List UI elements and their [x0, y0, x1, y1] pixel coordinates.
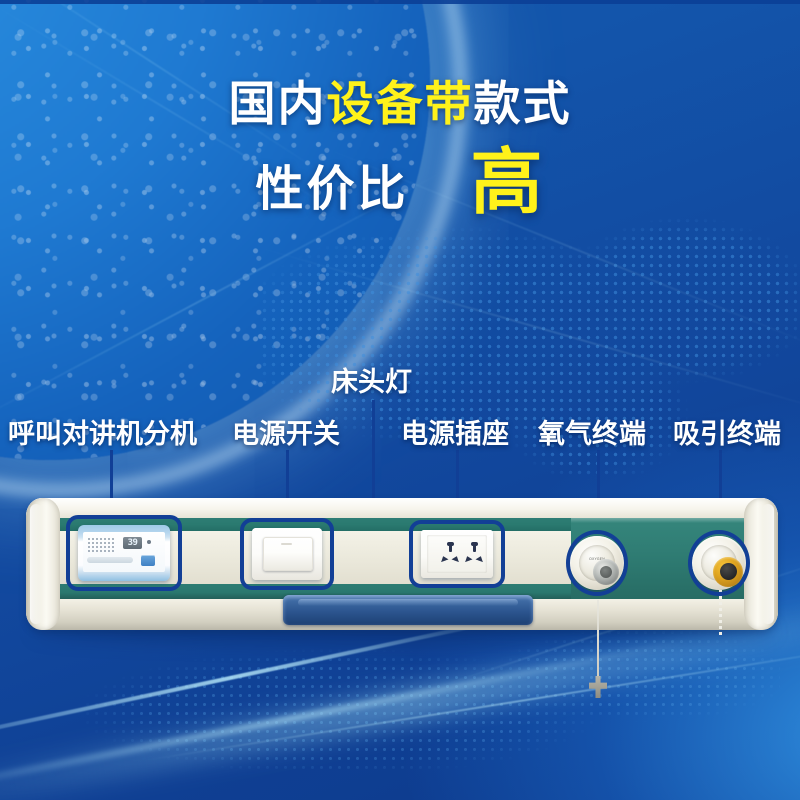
headline-part-2: 设备带 [327, 77, 474, 130]
headline-block: 国内设备带款式 性价比 高 [0, 78, 800, 219]
product-banner: 国内设备带款式 性价比 高 呼叫对讲机分机 电源开关 床头灯 电源插座 氧气终端… [0, 0, 800, 800]
highlight-box-intercom [66, 515, 182, 591]
suction-terminal-tether [719, 590, 722, 638]
top-edge-line [0, 0, 800, 4]
headline-value-phrase: 性价比 [255, 149, 408, 219]
bedside-light-pull-cord[interactable] [597, 600, 599, 678]
headline-emphasis-word: 高 [471, 149, 545, 217]
headline-part-1: 国内 [229, 77, 327, 130]
callout-label-switch: 电源开关 [232, 412, 340, 451]
panel-end-cap-left [26, 498, 60, 630]
highlight-box-switch [240, 518, 334, 590]
highlight-circle-suction [688, 530, 750, 596]
headline-part-3: 款式 [474, 77, 572, 130]
callout-label-outlet: 电源插座 [401, 412, 509, 451]
callout-label-lamp: 床头灯 [331, 360, 412, 399]
end-cap-highlight [762, 504, 774, 624]
callout-label-oxygen: 氧气终端 [538, 412, 646, 451]
headline-line-2: 性价比 高 [0, 149, 800, 219]
end-cap-highlight [30, 504, 42, 624]
callout-label-intercom: 呼叫对讲机分机 [8, 412, 197, 451]
highlight-box-outlet [409, 520, 505, 588]
headline-line-1: 国内设备带款式 [0, 78, 800, 131]
callout-label-suction: 吸引终端 [673, 412, 781, 451]
bedside-light[interactable] [283, 595, 533, 625]
highlight-circle-oxygen [566, 530, 628, 596]
